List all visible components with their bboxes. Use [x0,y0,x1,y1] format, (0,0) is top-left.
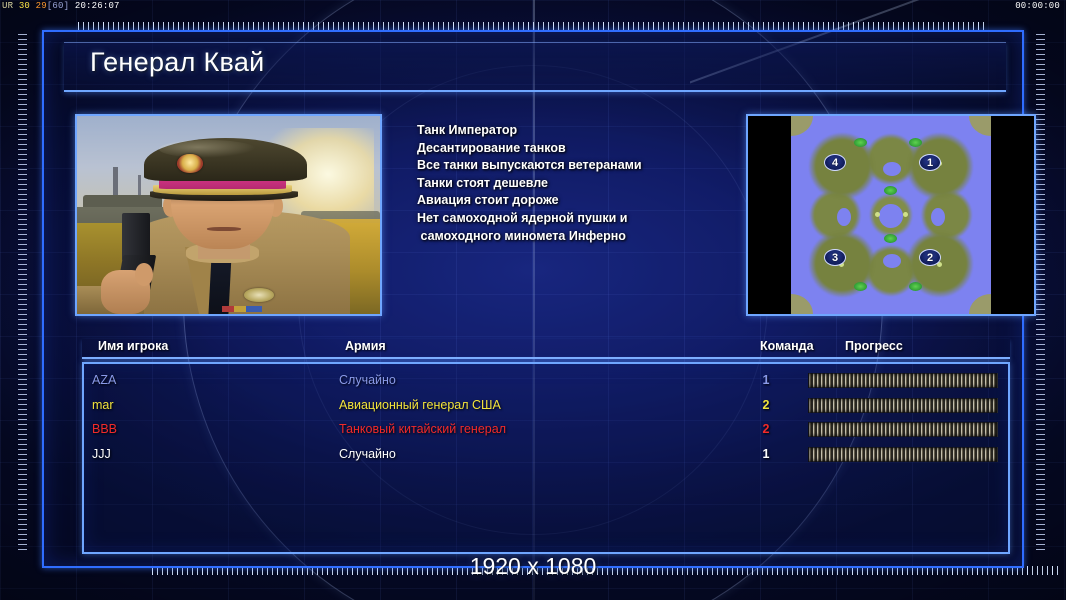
player-name: mar [92,398,114,412]
player-row[interactable]: marАвиационный генерал США2 [84,395,1008,419]
player-army: Авиационный генерал США [339,398,501,412]
game-clock: 00:00:00 [1015,0,1060,12]
player-row[interactable]: AZAСлучайно1 [84,370,1008,394]
ruler-ticks-right [1036,34,1045,554]
page-title: Генерал Квай [90,47,265,78]
fps-value: 30 [19,1,30,11]
player-team: 1 [754,447,778,461]
player-row[interactable]: JJJСлучайно1 [84,444,1008,468]
player-list-header: Имя игрокаАрмияКомандаПрогресс [82,339,1010,359]
map-start-position-1[interactable]: 1 [919,154,941,171]
bonus-line: Нет самоходной ядерной пушки и [417,210,729,228]
player-team: 2 [754,398,778,412]
fps-value-secondary: 29 [36,1,47,11]
player-team: 2 [754,422,778,436]
player-progress-bar [808,398,998,413]
column-header-progress: Прогресс [845,339,903,353]
map-start-position-4[interactable]: 4 [824,154,846,171]
title-bar: Генерал Квай [64,42,1006,92]
map-preview-frame[interactable]: 4132 [746,114,1036,316]
bonus-line: Авиация стоит дороже [417,192,729,210]
general-bonus-description: Танк ИмператорДесантирование танковВсе т… [417,122,729,245]
bonus-line: Танк Император [417,122,729,140]
column-header-name: Имя игрока [98,339,168,353]
player-row[interactable]: BBBТанковый китайский генерал2 [84,419,1008,443]
fps-cap: [60] [47,1,69,11]
general-portrait-frame [75,114,382,316]
map-start-position-2[interactable]: 2 [919,249,941,266]
bonus-line: Танки стоят дешевле [417,175,729,193]
session-time: 20:26:07 [75,1,120,11]
player-name: BBB [92,422,117,436]
player-army: Танковый китайский генерал [339,422,506,436]
player-name: AZA [92,373,116,387]
player-progress-bar [808,422,998,437]
ruler-ticks-left [18,34,27,554]
resolution-label: 1920 x 1080 [0,553,1066,580]
bonus-line: Десантирование танков [417,140,729,158]
fps-label: UR [2,1,13,11]
map-start-position-3[interactable]: 3 [824,249,846,266]
map-preview-image: 4132 [791,116,991,314]
player-name: JJJ [92,447,111,461]
player-army: Случайно [339,447,396,461]
player-list-panel[interactable]: AZAСлучайно1marАвиационный генерал США2B… [82,362,1010,554]
player-progress-bar [808,373,998,388]
column-header-army: Армия [345,339,386,353]
fps-counter: UR 30 29[60] 20:26:07 [2,0,120,12]
player-army: Случайно [339,373,396,387]
player-team: 1 [754,373,778,387]
column-header-team: Команда [760,339,814,353]
bonus-line: Все танки выпускаются ветеранами [417,157,729,175]
general-portrait-image [77,116,380,314]
bonus-line: самоходного миномета Инферно [417,228,729,246]
lobby-window: Генерал Квай Танк ИмператорДесантировани… [42,30,1024,568]
top-status-bar: UR 30 29[60] 20:26:07 00:00:00 [0,0,1066,12]
player-progress-bar [808,447,998,462]
